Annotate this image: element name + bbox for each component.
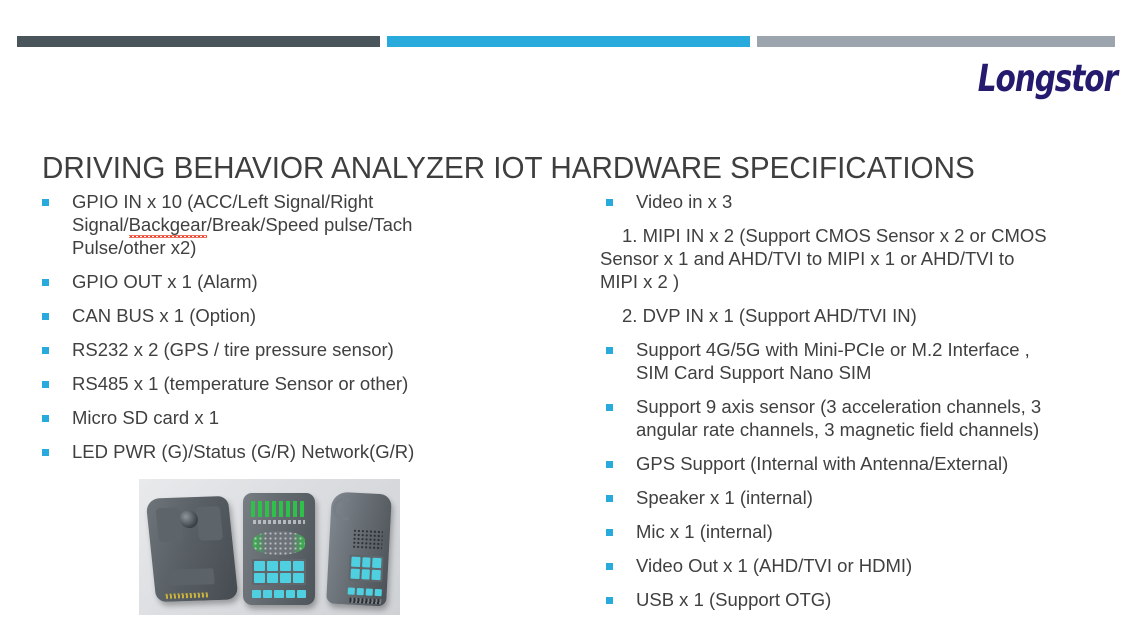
list-item-label: LED PWR (G)/Status (G/R) Network(G/R) <box>72 440 564 463</box>
device-speaker-grille <box>253 531 305 555</box>
list-item: USB x 1 (Support OTG) <box>600 588 1110 611</box>
device-key <box>357 588 364 595</box>
left-spec-list: GPIO IN x 10 (ACC/Left Signal/Right Sign… <box>36 190 564 463</box>
list-item: Speaker x 1 (internal) <box>600 486 1110 509</box>
bullet-square-icon <box>606 529 613 536</box>
sub-list-item: 1. MIPI IN x 2 (Support CMOS Sensor x 2 … <box>600 224 1110 293</box>
bullet-square-icon <box>42 347 49 354</box>
device-display-cell <box>280 561 291 571</box>
bullet-square-icon <box>606 199 613 206</box>
device-connector-strip <box>166 592 209 598</box>
list-item-label: Video in x 3 <box>636 190 1110 213</box>
bullet-square-icon <box>42 199 49 206</box>
list-item: Mic x 1 (internal) <box>600 520 1110 543</box>
list-item: LED PWR (G)/Status (G/R) Network(G/R) <box>36 440 564 463</box>
device-label-area <box>167 568 215 586</box>
spellcheck-word: Backgear <box>129 213 207 236</box>
list-item-label: Support 9 axis sensor (3 acceleration ch… <box>636 395 1110 441</box>
device-display-cell <box>372 558 381 568</box>
device-display-cell <box>350 569 359 579</box>
bullet-square-icon <box>606 563 613 570</box>
device-display-cell <box>254 561 265 571</box>
device-display-cell <box>267 573 278 583</box>
device-mount-hook <box>333 498 350 521</box>
device-display-cell <box>361 569 370 579</box>
device-display <box>252 559 306 585</box>
device-key <box>286 590 295 598</box>
device-key <box>252 590 261 598</box>
bullet-square-icon <box>606 404 613 411</box>
list-item-label: USB x 1 (Support OTG) <box>636 588 1110 611</box>
header-accent-bars <box>0 36 1131 47</box>
device-display-cell <box>362 557 371 567</box>
list-item-label: GPS Support (Internal with Antenna/Exter… <box>636 452 1110 475</box>
device-key <box>274 590 283 598</box>
sub-list-item: 2. DVP IN x 1 (Support AHD/TVI IN) <box>600 304 1110 327</box>
list-item-label: GPIO OUT x 1 (Alarm) <box>72 270 564 293</box>
list-item: Video in x 3 <box>600 190 1110 213</box>
list-item: GPIO IN x 10 (ACC/Left Signal/Right Sign… <box>36 190 564 259</box>
device-key <box>375 589 382 596</box>
device-side-display <box>348 555 383 583</box>
list-item: GPS Support (Internal with Antenna/Exter… <box>600 452 1110 475</box>
bullet-square-icon <box>42 381 49 388</box>
list-item-label: Video Out x 1 (AHD/TVI or HDMI) <box>636 554 1110 577</box>
right-spec-list: Video in x 3 1. MIPI IN x 2 (Support CMO… <box>600 190 1110 611</box>
sub-list-item-label: 2. DVP IN x 1 (Support AHD/TVI IN) <box>600 304 1110 327</box>
bullet-square-icon <box>606 597 613 604</box>
device-display-cell <box>293 573 304 583</box>
device-display-cell <box>254 573 265 583</box>
list-item: Support 4G/5G with Mini-PCIe or M.2 Inte… <box>600 338 1110 384</box>
list-item-label: Speaker x 1 (internal) <box>636 486 1110 509</box>
device-key <box>366 588 373 595</box>
accent-bar-gray <box>757 36 1115 47</box>
bullet-square-icon <box>606 461 613 468</box>
bullet-square-icon <box>42 313 49 320</box>
device-brand-marking <box>253 520 305 524</box>
bullet-square-icon <box>42 415 49 422</box>
list-item-label: RS232 x 2 (GPS / tire pressure sensor) <box>72 338 564 361</box>
device-side-keypad <box>348 587 382 596</box>
device-display-cell <box>293 561 304 571</box>
device-led-array <box>251 501 307 517</box>
device-side-view <box>326 492 392 607</box>
device-display-cell <box>267 561 278 571</box>
accent-bar-dark <box>17 36 380 47</box>
list-item-label: Support 4G/5G with Mini-PCIe or M.2 Inte… <box>636 338 1110 384</box>
sub-list-item-label: 1. MIPI IN x 2 (Support CMOS Sensor x 2 … <box>600 224 1110 293</box>
device-port-strip <box>349 598 381 605</box>
accent-bar-blue <box>387 36 750 47</box>
device-back-view <box>145 496 238 602</box>
device-display-cell <box>351 557 360 567</box>
brand-logo: Longstor <box>1007 60 1117 108</box>
device-front-view <box>243 493 315 605</box>
list-item: Micro SD card x 1 <box>36 406 564 429</box>
list-item: GPIO OUT x 1 (Alarm) <box>36 270 564 293</box>
bullet-square-icon <box>606 495 613 502</box>
list-item-label: CAN BUS x 1 (Option) <box>72 304 564 327</box>
list-item: Video Out x 1 (AHD/TVI or HDMI) <box>600 554 1110 577</box>
bullet-square-icon <box>42 279 49 286</box>
device-key <box>263 590 272 598</box>
bullet-square-icon <box>606 347 613 354</box>
brand-logo-text: Longstor <box>978 60 1117 98</box>
device-key <box>297 590 306 598</box>
left-specs-column: GPIO IN x 10 (ACC/Left Signal/Right Sign… <box>36 190 564 474</box>
right-specs-column: Video in x 3 1. MIPI IN x 2 (Support CMO… <box>600 190 1110 622</box>
bullet-square-icon <box>42 449 49 456</box>
page-title: DRIVING BEHAVIOR ANALYZER IOT HARDWARE S… <box>42 149 1045 187</box>
device-plate-right <box>196 506 224 541</box>
list-item-label: Mic x 1 (internal) <box>636 520 1110 543</box>
list-item-label: Micro SD card x 1 <box>72 406 564 429</box>
device-key <box>348 587 355 594</box>
list-item: RS232 x 2 (GPS / tire pressure sensor) <box>36 338 564 361</box>
device-vent-grille <box>352 529 383 551</box>
list-item: RS485 x 1 (temperature Sensor or other) <box>36 372 564 395</box>
device-display-cell <box>372 570 381 580</box>
list-item: Support 9 axis sensor (3 acceleration ch… <box>600 395 1110 441</box>
device-keypad <box>252 590 306 598</box>
list-item: CAN BUS x 1 (Option) <box>36 304 564 327</box>
device-display-cell <box>280 573 291 583</box>
device-plate-left <box>156 508 184 543</box>
list-item-label: RS485 x 1 (temperature Sensor or other) <box>72 372 564 395</box>
product-image <box>139 479 400 615</box>
list-item-label: GPIO IN x 10 (ACC/Left Signal/Right Sign… <box>72 190 564 259</box>
